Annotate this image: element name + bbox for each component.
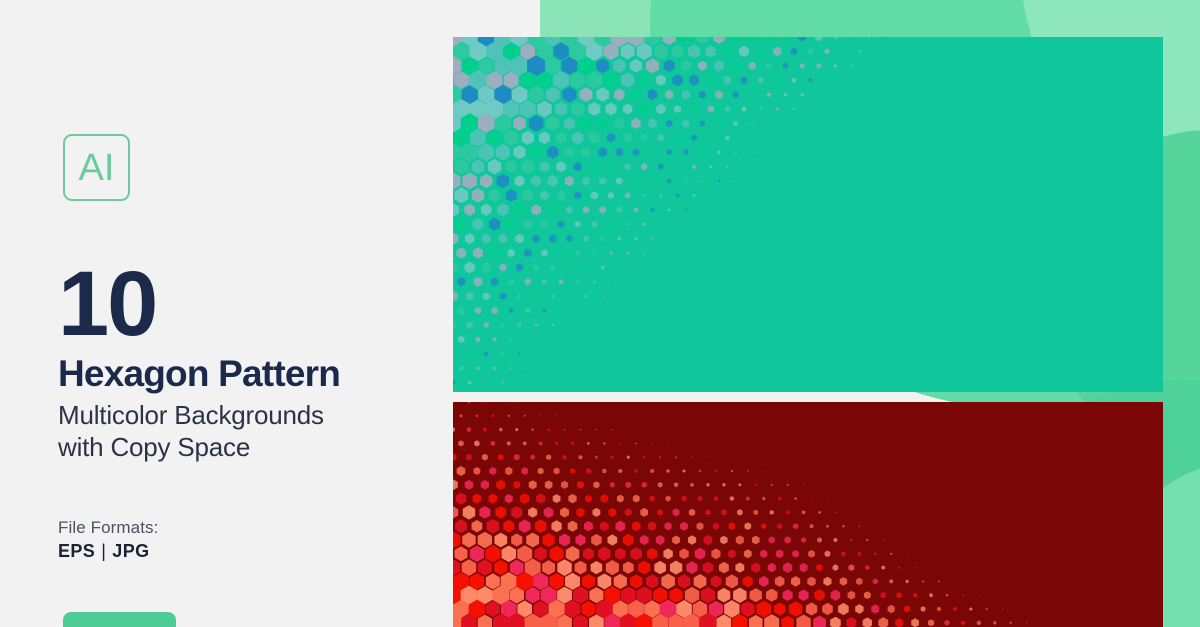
file-format-jpg: JPG [112,541,149,561]
file-format-eps: EPS [58,541,95,561]
file-formats-label: File Formats: [58,518,158,538]
cta-button[interactable] [63,612,176,627]
promo-artboard: AI 10 Hexagon Pattern Multicolor Backgro… [0,0,1200,627]
green-hexagon-preview[interactable] [453,37,1163,392]
red-hexagon-preview[interactable] [453,402,1163,627]
red-hexagon-pattern [453,402,1163,627]
info-column: AI 10 Hexagon Pattern Multicolor Backgro… [0,0,453,627]
page-subtitle: Multicolor Backgrounds with Copy Space [58,400,324,463]
file-formats-value: EPS|JPG [58,541,150,562]
page-title: Hexagon Pattern [58,354,340,394]
file-format-separator: | [95,541,112,561]
ai-format-badge-icon: AI [63,134,130,201]
page-subtitle-line-2: with Copy Space [58,432,324,464]
page-subtitle-line-1: Multicolor Backgrounds [58,400,324,432]
ai-badge-label: AI [79,149,115,187]
item-count: 10 [58,258,156,350]
green-hexagon-pattern [453,37,1163,392]
